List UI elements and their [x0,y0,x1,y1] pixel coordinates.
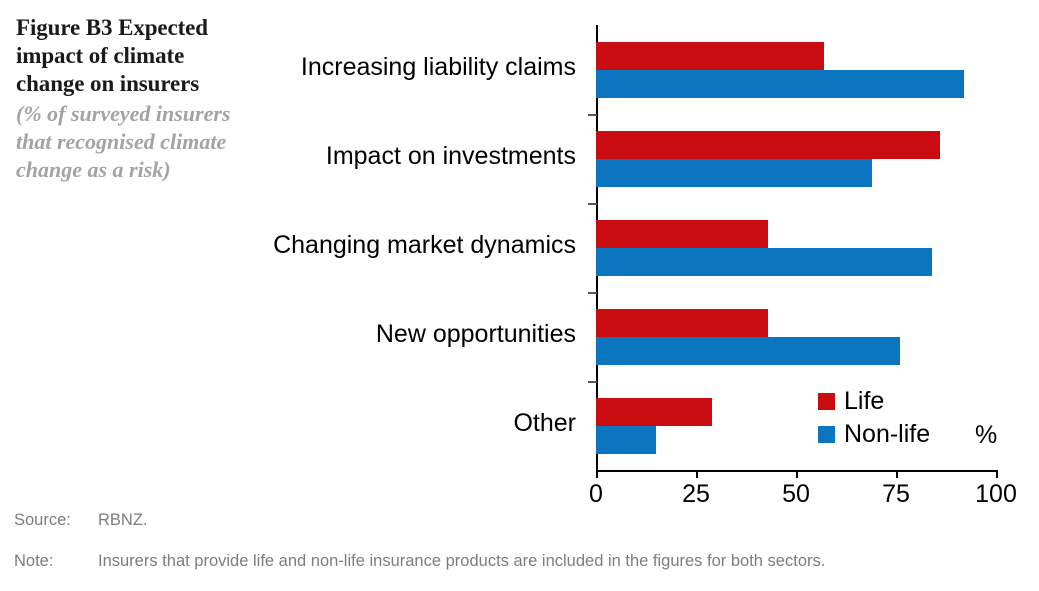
note-text: Insurers that provide life and non-life … [98,552,825,570]
x-axis-tick [896,470,898,478]
bar-life[interactable] [596,42,824,70]
source-label: Source: [14,511,98,530]
note-label: Note: [14,552,98,571]
bar-chart: 0255075100 Increasing liability claimsIm… [0,0,1039,500]
x-axis-tick [596,470,598,478]
bar-life[interactable] [596,398,712,426]
legend-item-life[interactable]: Life [818,385,930,418]
bar-group [596,381,996,470]
category-label: Increasing liability claims [301,53,576,82]
category-label: Changing market dynamics [273,231,576,260]
bar-nonlife[interactable] [596,337,900,365]
x-axis-tick-label: 100 [975,480,1017,509]
legend-label-nonlife: Non-life [844,420,930,449]
bar-group [596,292,996,381]
x-axis-tick-label: 0 [589,480,603,509]
x-axis-tick-label: 75 [882,480,910,509]
y-axis-tick [588,114,597,116]
bar-nonlife[interactable] [596,248,932,276]
x-axis-tick [696,470,698,478]
y-axis-tick [588,203,597,205]
x-axis-unit-label: % [975,421,997,450]
y-axis-tick [588,381,597,383]
x-axis-tick [996,470,998,478]
x-axis-tick [796,470,798,478]
source-text: RBNZ. [98,511,148,529]
legend-label-life: Life [844,387,884,416]
bar-life[interactable] [596,131,940,159]
chart-legend: Life Non-life [818,385,930,451]
source-note: Source:RBNZ. [14,511,148,530]
legend-swatch-nonlife [818,426,835,443]
general-note: Note:Insurers that provide life and non-… [14,552,825,571]
x-axis-tick-label: 50 [782,480,810,509]
bar-nonlife[interactable] [596,159,872,187]
legend-item-nonlife[interactable]: Non-life [818,418,930,451]
category-label: New opportunities [376,320,576,349]
category-label: Other [513,409,576,438]
legend-swatch-life [818,393,835,410]
bar-nonlife[interactable] [596,70,964,98]
category-label: Impact on investments [326,142,576,171]
x-axis-tick-label: 25 [682,480,710,509]
bar-group [596,25,996,114]
bar-life[interactable] [596,309,768,337]
bar-group [596,114,996,203]
bar-group [596,203,996,292]
y-axis-tick [588,292,597,294]
bar-nonlife[interactable] [596,426,656,454]
bar-life[interactable] [596,220,768,248]
